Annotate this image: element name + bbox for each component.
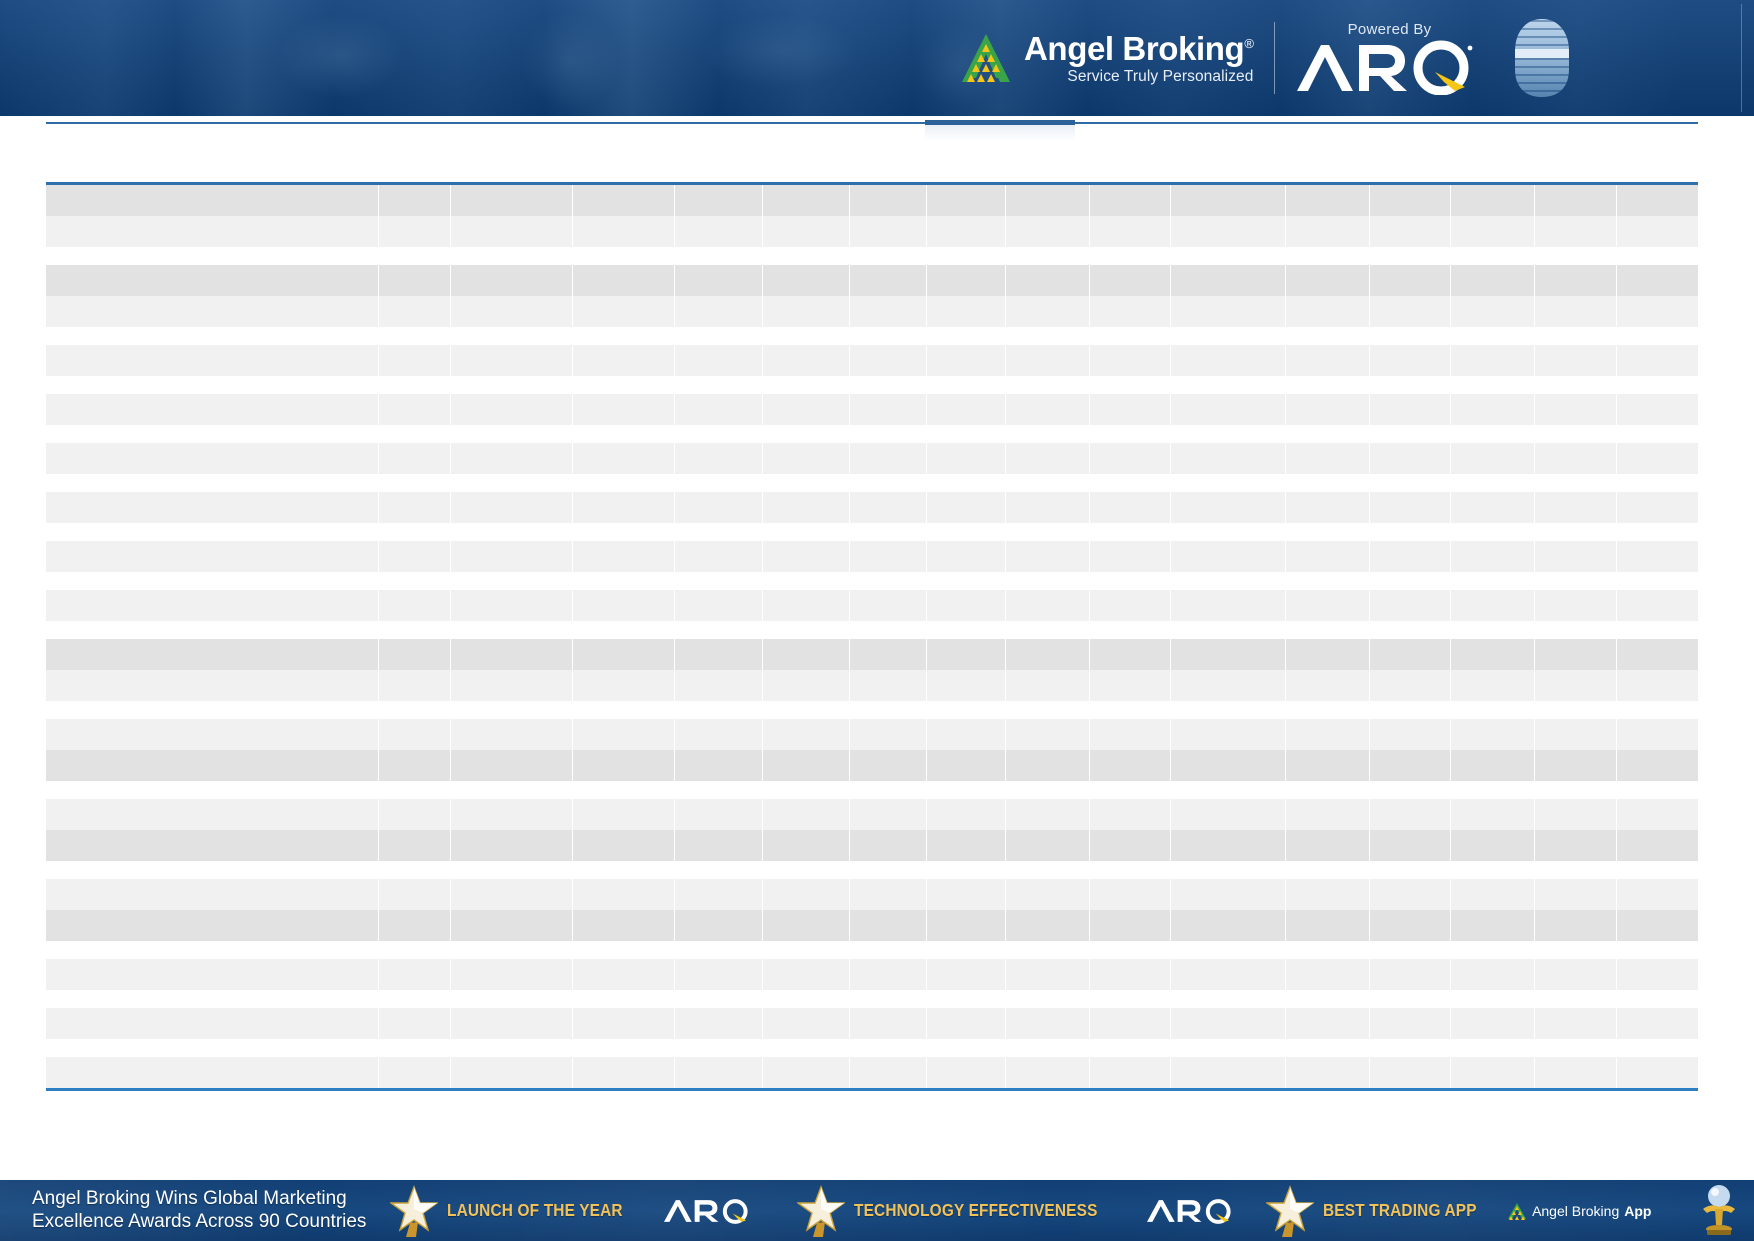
- table-cell: [926, 781, 1005, 799]
- table-cell: [1089, 1039, 1171, 1057]
- table-row[interactable]: [46, 572, 1698, 590]
- table-cell: [1285, 959, 1369, 990]
- table-cell: [378, 492, 450, 523]
- table-cell: [1616, 185, 1698, 216]
- table-cell: [1451, 639, 1535, 670]
- table-cell: [849, 1008, 926, 1039]
- table-cell: [1451, 799, 1535, 830]
- table-row[interactable]: [46, 781, 1698, 799]
- table-cell: [573, 541, 674, 572]
- table-row[interactable]: [46, 861, 1698, 879]
- table-cell: [1089, 941, 1171, 959]
- table-row-label: [46, 247, 378, 265]
- table-cell: [573, 719, 674, 750]
- table-row[interactable]: [46, 492, 1698, 523]
- table-cell: [451, 639, 573, 670]
- table-cell: [378, 1039, 450, 1057]
- table-cell: [1285, 590, 1369, 621]
- table-cell: [849, 376, 926, 394]
- table-cell: [1616, 941, 1698, 959]
- table-cell: [1285, 1057, 1369, 1088]
- table-cell: [849, 572, 926, 590]
- table-cell: [573, 216, 674, 247]
- arq-avatar-icon: [1499, 13, 1585, 103]
- table-cell: [1616, 523, 1698, 541]
- table-row[interactable]: [46, 590, 1698, 621]
- table-cell: [674, 1008, 763, 1039]
- table-cell: [1535, 345, 1617, 376]
- table-cell: [451, 216, 573, 247]
- table-cell: [1005, 425, 1089, 443]
- table-cell: [1285, 879, 1369, 910]
- table-cell: [849, 541, 926, 572]
- table-cell: [573, 750, 674, 781]
- table-row[interactable]: [46, 376, 1698, 394]
- footer-headline-line1: Angel Broking Wins Global Marketing: [32, 1188, 390, 1210]
- table-row[interactable]: [46, 425, 1698, 443]
- table-cell: [926, 639, 1005, 670]
- table-cell: [1451, 394, 1535, 425]
- table-cell: [378, 376, 450, 394]
- table-cell: [1451, 296, 1535, 327]
- table-cell: [573, 394, 674, 425]
- table-cell: [1451, 861, 1535, 879]
- table-cell: [763, 621, 849, 639]
- table-cell: [926, 492, 1005, 523]
- table-cell: [763, 959, 849, 990]
- table-cell: [849, 1039, 926, 1057]
- table-row-label: [46, 1039, 378, 1057]
- table-cell: [1535, 216, 1617, 247]
- table-cell: [378, 941, 450, 959]
- title-divider: [46, 122, 1698, 124]
- table-row[interactable]: [46, 265, 1698, 296]
- table-row[interactable]: [46, 185, 1698, 216]
- table-cell: [926, 523, 1005, 541]
- table-cell: [674, 621, 763, 639]
- table-cell: [378, 265, 450, 296]
- table-cell: [1005, 750, 1089, 781]
- table-cell: [1285, 345, 1369, 376]
- powered-by-label: Powered By: [1348, 22, 1432, 37]
- table-cell: [926, 990, 1005, 1008]
- table-cell: [763, 296, 849, 327]
- table-cell: [1616, 1039, 1698, 1057]
- table-cell: [926, 701, 1005, 719]
- table-row-label: [46, 621, 378, 639]
- table-cell: [1171, 830, 1285, 861]
- table-row-label: [46, 719, 378, 750]
- table-cell: [849, 910, 926, 941]
- table-row[interactable]: [46, 1008, 1698, 1039]
- table-cell: [1369, 376, 1451, 394]
- table-cell: [1616, 861, 1698, 879]
- table-cell: [1171, 910, 1285, 941]
- table-cell: [1369, 425, 1451, 443]
- table-cell: [378, 639, 450, 670]
- table-cell: [1171, 443, 1285, 474]
- table-row[interactable]: [46, 621, 1698, 639]
- table-cell: [1171, 879, 1285, 910]
- table-cell: [1616, 879, 1698, 910]
- table-cell: [378, 879, 450, 910]
- table-cell: [849, 394, 926, 425]
- table-cell: [378, 670, 450, 701]
- table-cell: [1369, 492, 1451, 523]
- table-row-label: [46, 910, 378, 941]
- table-row[interactable]: [46, 799, 1698, 830]
- table-cell: [1005, 590, 1089, 621]
- table-cell: [674, 296, 763, 327]
- table-cell: [1171, 941, 1285, 959]
- table-cell: [849, 265, 926, 296]
- table-cell: [1171, 572, 1285, 590]
- table-cell: [573, 185, 674, 216]
- award-brand-name: Angel Broking: [1532, 1203, 1619, 1219]
- table-cell: [1451, 941, 1535, 959]
- table-cell: [1535, 799, 1617, 830]
- table-cell: [674, 750, 763, 781]
- table-cell: [763, 216, 849, 247]
- table-cell: [1616, 670, 1698, 701]
- table-cell: [763, 701, 849, 719]
- award-best-trading-app: BEST TRADING APP: [1266, 1180, 1651, 1241]
- table-cell: [378, 750, 450, 781]
- table-cell: [763, 345, 849, 376]
- table-row[interactable]: [46, 523, 1698, 541]
- table-cell: [1451, 621, 1535, 639]
- table-cell: [451, 296, 573, 327]
- table-cell: [378, 523, 450, 541]
- report-table-wrap: [46, 182, 1698, 1091]
- table-cell: [1535, 621, 1617, 639]
- table-cell: [674, 185, 763, 216]
- table-row[interactable]: [46, 879, 1698, 910]
- table-cell: [849, 327, 926, 345]
- table-cell: [1285, 750, 1369, 781]
- table-cell: [1171, 492, 1285, 523]
- table-cell: [1451, 492, 1535, 523]
- table-cell: [1089, 990, 1171, 1008]
- star-award-icon: [797, 1185, 845, 1237]
- table-cell: [763, 990, 849, 1008]
- table-cell: [1005, 572, 1089, 590]
- table-row[interactable]: [46, 443, 1698, 474]
- table-cell: [849, 621, 926, 639]
- table-row[interactable]: [46, 670, 1698, 701]
- table-cell: [926, 474, 1005, 492]
- table-cell: [451, 247, 573, 265]
- table-cell: [1005, 376, 1089, 394]
- table-cell: [1535, 376, 1617, 394]
- table-cell: [1005, 941, 1089, 959]
- table-row-label: [46, 216, 378, 247]
- table-cell: [763, 443, 849, 474]
- content-area: [0, 116, 1754, 1180]
- table-cell: [1369, 345, 1451, 376]
- table-cell: [378, 327, 450, 345]
- table-row[interactable]: [46, 701, 1698, 719]
- table-cell: [1005, 541, 1089, 572]
- table-cell: [1369, 639, 1451, 670]
- table-row[interactable]: [46, 394, 1698, 425]
- table-cell: [1535, 719, 1617, 750]
- table-cell: [1451, 670, 1535, 701]
- table-cell: [1005, 959, 1089, 990]
- table-cell: [1171, 590, 1285, 621]
- table-cell: [378, 474, 450, 492]
- table-cell: [1616, 572, 1698, 590]
- table-cell: [1171, 670, 1285, 701]
- table-cell: [1535, 1057, 1617, 1088]
- table-cell: [1451, 1057, 1535, 1088]
- arq-logo[interactable]: Powered By: [1295, 22, 1485, 95]
- table-cell: [573, 443, 674, 474]
- table-cell: [573, 781, 674, 799]
- table-cell: [763, 185, 849, 216]
- table-cell: [1089, 216, 1171, 247]
- table-row[interactable]: [46, 750, 1698, 781]
- angel-pyramid-icon: [1507, 1202, 1527, 1220]
- table-cell: [451, 265, 573, 296]
- table-cell: [1369, 572, 1451, 590]
- table-cell: [763, 376, 849, 394]
- table-cell: [1171, 781, 1285, 799]
- table-cell: [1451, 750, 1535, 781]
- table-cell: [1369, 910, 1451, 941]
- table-row[interactable]: [46, 327, 1698, 345]
- table-cell: [926, 959, 1005, 990]
- table-cell: [1005, 719, 1089, 750]
- table-cell: [1616, 750, 1698, 781]
- table-row[interactable]: [46, 1039, 1698, 1057]
- table-cell: [1171, 296, 1285, 327]
- table-cell: [1285, 830, 1369, 861]
- angel-broking-logo[interactable]: Angel Broking® Service Truly Personalize…: [960, 32, 1254, 85]
- table-row-label: [46, 425, 378, 443]
- table-cell: [1285, 443, 1369, 474]
- table-cell: [926, 443, 1005, 474]
- table-cell: [378, 572, 450, 590]
- table-cell: [674, 247, 763, 265]
- table-row[interactable]: [46, 959, 1698, 990]
- table-cell: [1535, 990, 1617, 1008]
- table-cell: [1369, 394, 1451, 425]
- table-row-label: [46, 861, 378, 879]
- award-label: BEST TRADING APP: [1323, 1200, 1477, 1221]
- table-cell: [763, 639, 849, 670]
- table-cell: [674, 443, 763, 474]
- table-cell: [926, 296, 1005, 327]
- table-cell: [1285, 910, 1369, 941]
- table-row[interactable]: [46, 941, 1698, 959]
- table-cell: [1089, 572, 1171, 590]
- table-cell: [1451, 1008, 1535, 1039]
- table-cell: [378, 719, 450, 750]
- table-row[interactable]: [46, 296, 1698, 327]
- table-row-label: [46, 959, 378, 990]
- table-cell: [378, 443, 450, 474]
- table-cell: [1535, 879, 1617, 910]
- table-cell: [1005, 799, 1089, 830]
- table-cell: [926, 376, 1005, 394]
- table-row-label: [46, 345, 378, 376]
- table-cell: [926, 345, 1005, 376]
- angel-broking-wordmark: Angel Broking® Service Truly Personalize…: [1024, 32, 1254, 85]
- table-cell: [1005, 216, 1089, 247]
- table-cell: [1089, 781, 1171, 799]
- table-row[interactable]: [46, 830, 1698, 861]
- table-cell: [1535, 1039, 1617, 1057]
- table-cell: [573, 492, 674, 523]
- table-cell: [674, 670, 763, 701]
- table-cell: [849, 719, 926, 750]
- table-cell: [1369, 719, 1451, 750]
- table-cell: [674, 572, 763, 590]
- table-cell: [573, 830, 674, 861]
- table-cell: [378, 861, 450, 879]
- table-cell: [451, 621, 573, 639]
- table-cell: [451, 345, 573, 376]
- table-cell: [674, 879, 763, 910]
- table-cell: [674, 327, 763, 345]
- table-cell: [926, 541, 1005, 572]
- table-cell: [378, 247, 450, 265]
- table-cell: [849, 443, 926, 474]
- table-cell: [451, 941, 573, 959]
- header-banner: Angel Broking® Service Truly Personalize…: [0, 0, 1754, 116]
- table-cell: [1616, 781, 1698, 799]
- table-cell: [1005, 990, 1089, 1008]
- table-cell: [1451, 425, 1535, 443]
- table-cell: [1369, 443, 1451, 474]
- table-row[interactable]: [46, 541, 1698, 572]
- table-cell: [1451, 541, 1535, 572]
- table-cell: [378, 345, 450, 376]
- table-cell: [1369, 1008, 1451, 1039]
- table-cell: [763, 910, 849, 941]
- table-cell: [378, 541, 450, 572]
- table-row-label: [46, 376, 378, 394]
- table-row[interactable]: [46, 910, 1698, 941]
- table-cell: [1171, 1008, 1285, 1039]
- table-cell: [1171, 185, 1285, 216]
- table-cell: [1285, 572, 1369, 590]
- table-cell: [1369, 670, 1451, 701]
- table-cell: [451, 1039, 573, 1057]
- table-cell: [1089, 1057, 1171, 1088]
- table-cell: [1535, 327, 1617, 345]
- table-cell: [1171, 327, 1285, 345]
- table-cell: [573, 376, 674, 394]
- table-row[interactable]: [46, 639, 1698, 670]
- table-row-label: [46, 750, 378, 781]
- table-cell: [573, 639, 674, 670]
- table-cell: [451, 425, 573, 443]
- table-row[interactable]: [46, 990, 1698, 1008]
- table-cell: [1535, 265, 1617, 296]
- table-row[interactable]: [46, 345, 1698, 376]
- table-cell: [1535, 474, 1617, 492]
- table-cell: [1089, 1008, 1171, 1039]
- table-cell: [1285, 247, 1369, 265]
- table-cell: [1616, 799, 1698, 830]
- table-row[interactable]: [46, 216, 1698, 247]
- table-cell: [674, 345, 763, 376]
- table-row[interactable]: [46, 474, 1698, 492]
- table-row-label: [46, 492, 378, 523]
- table-cell: [1171, 861, 1285, 879]
- table-cell: [1616, 394, 1698, 425]
- table-cell: [1535, 443, 1617, 474]
- table-cell: [1089, 910, 1171, 941]
- table-row[interactable]: [46, 247, 1698, 265]
- table-cell: [1369, 830, 1451, 861]
- table-cell: [1616, 216, 1698, 247]
- table-cell: [1089, 621, 1171, 639]
- table-cell: [1369, 799, 1451, 830]
- table-cell: [451, 959, 573, 990]
- table-cell: [763, 719, 849, 750]
- table-cell: [451, 701, 573, 719]
- table-cell: [1285, 327, 1369, 345]
- award-brand-suffix: App: [1624, 1203, 1651, 1219]
- table-cell: [849, 639, 926, 670]
- table-cell: [674, 990, 763, 1008]
- table-cell: [1089, 639, 1171, 670]
- table-row-label: [46, 572, 378, 590]
- table-cell: [1285, 990, 1369, 1008]
- table-cell: [378, 425, 450, 443]
- table-cell: [1285, 861, 1369, 879]
- table-cell: [1005, 443, 1089, 474]
- table-cell: [1089, 492, 1171, 523]
- table-cell: [674, 590, 763, 621]
- table-cell: [1005, 247, 1089, 265]
- table-cell: [1535, 1008, 1617, 1039]
- table-row[interactable]: [46, 1057, 1698, 1088]
- title-divider-shadow: [925, 125, 1075, 141]
- table-cell: [1616, 959, 1698, 990]
- table-cell: [1451, 523, 1535, 541]
- table-cell: [1451, 185, 1535, 216]
- report-table-body: [46, 185, 1698, 1088]
- table-cell: [1171, 376, 1285, 394]
- table-cell: [1451, 247, 1535, 265]
- table-row-label: [46, 523, 378, 541]
- table-cell: [451, 1008, 573, 1039]
- table-cell: [674, 523, 763, 541]
- table-cell: [1616, 425, 1698, 443]
- table-cell: [573, 425, 674, 443]
- table-cell: [1089, 541, 1171, 572]
- table-cell: [1171, 701, 1285, 719]
- table-cell: [1369, 523, 1451, 541]
- table-cell: [1171, 216, 1285, 247]
- table-cell: [849, 879, 926, 910]
- table-cell: [1285, 701, 1369, 719]
- table-cell: [1171, 265, 1285, 296]
- table-cell: [763, 541, 849, 572]
- table-cell: [1005, 910, 1089, 941]
- table-cell: [926, 265, 1005, 296]
- report-table[interactable]: [46, 185, 1698, 1088]
- table-row[interactable]: [46, 719, 1698, 750]
- table-cell: [451, 394, 573, 425]
- table-cell: [1616, 541, 1698, 572]
- table-cell: [1451, 910, 1535, 941]
- table-row-label: [46, 394, 378, 425]
